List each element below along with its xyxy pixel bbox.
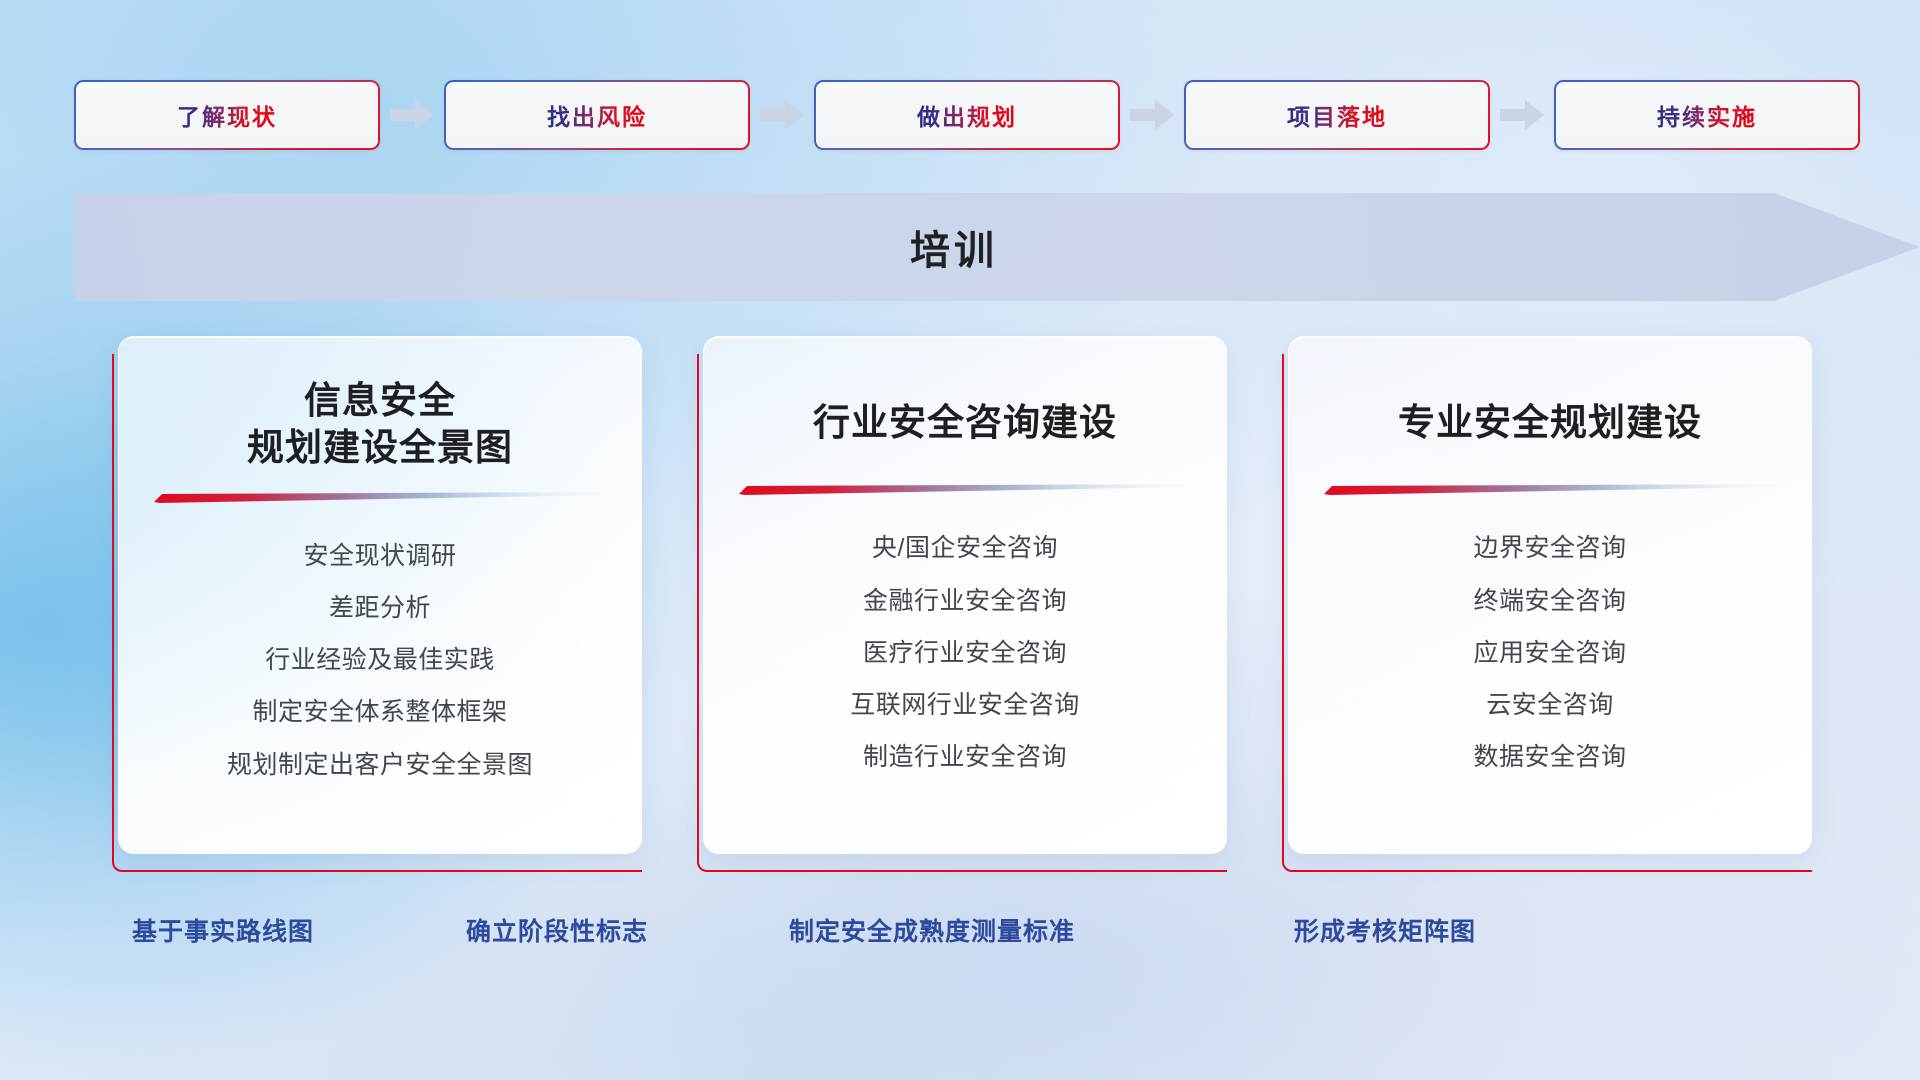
gradient-divider-icon [154,492,606,503]
process-step-row: 了解现状 找出风险 做出规划 项目落地 持续实施 [74,80,1864,150]
card-title: 信息安全 规划建设全景图 [247,377,513,472]
footnote-2: 确立阶段性标志 [466,912,648,948]
step-arrow-icon-1 [380,80,444,150]
card-body: 行业安全咨询建设 [703,336,1227,854]
list-item: 制造行业安全咨询 [863,732,1067,783]
card-3[interactable]: 专业安全规划建设 [1282,336,1812,872]
card-row: 信息安全 规划建设全景图 [112,336,1812,872]
list-item: 医疗行业安全咨询 [863,628,1067,679]
footnote-4: 形成考核矩阵图 [1294,912,1476,948]
footnote-3: 制定安全成熟度测量标准 [789,912,1075,948]
step-box-4[interactable]: 项目落地 [1184,80,1490,150]
step-box-1[interactable]: 了解现状 [74,80,380,150]
card-2[interactable]: 行业安全咨询建设 [697,336,1227,872]
list-item: 金融行业安全咨询 [863,576,1067,627]
step-label: 项目落地 [1287,98,1387,132]
card-1[interactable]: 信息安全 规划建设全景图 [112,336,642,872]
list-item: 央/国企安全咨询 [872,523,1058,574]
training-banner: 培训 [74,193,1920,301]
card-title-line: 行业安全咨询建设 [813,399,1117,446]
step-arrow-icon-2 [750,80,814,150]
step-label: 持续实施 [1657,98,1757,132]
card-title-line: 信息安全 [247,377,513,424]
gradient-divider-icon [739,484,1191,495]
gradient-divider-icon [1324,484,1776,495]
footnote-1: 基于事实路线图 [132,912,314,948]
card-title: 专业安全规划建设 [1398,399,1702,446]
card-list: 边界安全咨询 终端安全咨询 应用安全咨询 云安全咨询 数据安全咨询 [1315,523,1785,783]
step-box-2[interactable]: 找出风险 [444,80,750,150]
footnote-row: 基于事实路线图 确立阶段性标志 制定安全成熟度测量标准 形成考核矩阵图 [0,912,1920,960]
card-title-line: 规划建设全景图 [247,424,513,471]
step-arrow-icon-4 [1490,80,1554,150]
card-body: 信息安全 规划建设全景图 [118,336,642,854]
list-item: 数据安全咨询 [1473,732,1626,783]
list-item: 安全现状调研 [303,531,456,582]
banner-title: 培训 [74,193,1834,301]
list-item: 互联网行业安全咨询 [850,680,1080,731]
list-item: 应用安全咨询 [1473,628,1626,679]
list-item: 规划制定出客户安全全景图 [227,740,533,791]
card-list: 安全现状调研 差距分析 行业经验及最佳实践 制定安全体系整体框架 规划制定出客户… [145,531,615,791]
card-list: 央/国企安全咨询 金融行业安全咨询 医疗行业安全咨询 互联网行业安全咨询 制造行… [730,523,1200,783]
step-box-3[interactable]: 做出规划 [814,80,1120,150]
list-item: 行业经验及最佳实践 [265,635,495,686]
step-label: 了解现状 [177,98,277,132]
list-item: 差距分析 [329,583,431,634]
step-box-5[interactable]: 持续实施 [1554,80,1860,150]
list-item: 云安全咨询 [1486,680,1614,731]
step-label: 做出规划 [917,98,1017,132]
step-arrow-icon-3 [1120,80,1184,150]
card-title: 行业安全咨询建设 [813,399,1117,446]
list-item: 制定安全体系整体框架 [252,687,507,738]
card-body: 专业安全规划建设 [1288,336,1812,854]
list-item: 终端安全咨询 [1473,576,1626,627]
card-title-line: 专业安全规划建设 [1398,399,1702,446]
step-label: 找出风险 [547,98,647,132]
list-item: 边界安全咨询 [1473,523,1626,574]
